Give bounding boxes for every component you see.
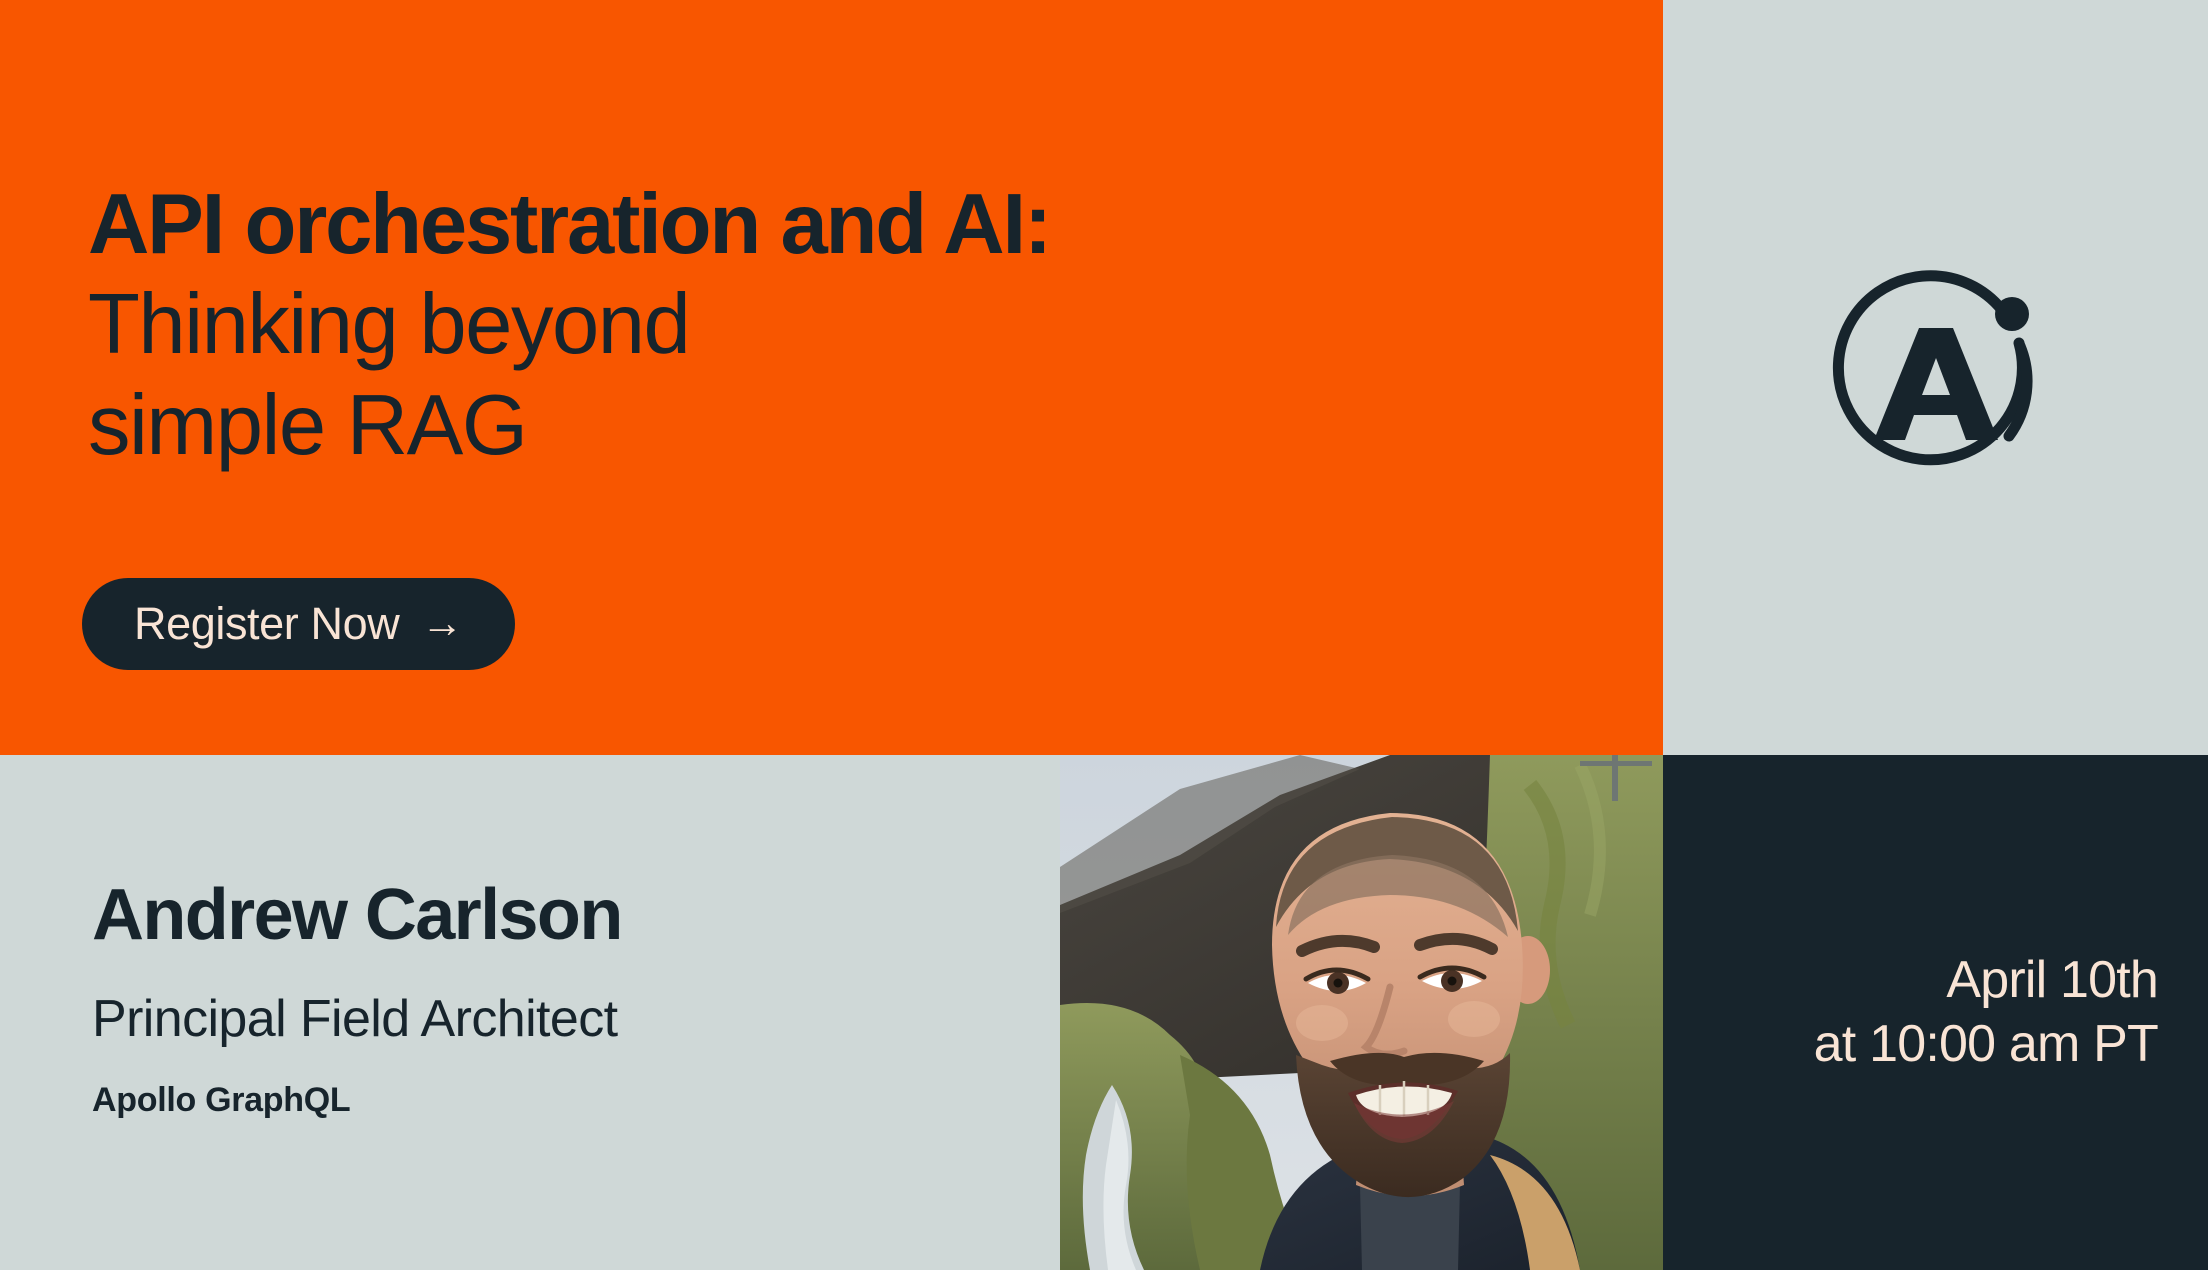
- webinar-promo-banner: API orchestration and AI: Thinking beyon…: [0, 0, 2208, 1270]
- title-line-1: API orchestration and AI:: [88, 175, 1568, 275]
- title-line-3: simple RAG: [88, 376, 1568, 476]
- apollo-logo-dot: [1995, 297, 2029, 331]
- speaker-name: Andrew Carlson: [92, 879, 622, 951]
- speaker-role: Principal Field Architect: [92, 993, 617, 1045]
- page-title: API orchestration and AI: Thinking beyon…: [88, 175, 1568, 476]
- apollo-logo-letter-a: [1874, 328, 1998, 440]
- register-now-button[interactable]: Register Now →: [82, 578, 515, 670]
- register-now-label: Register Now: [134, 598, 399, 650]
- hero-panel: API orchestration and AI: Thinking beyon…: [0, 0, 1663, 755]
- event-date-panel: April 10th at 10:00 am PT: [1663, 755, 2208, 1270]
- speaker-photo-illustration: [1060, 755, 1663, 1270]
- speaker-company: Apollo GraphQL: [92, 1083, 350, 1117]
- arrow-right-icon: →: [421, 602, 463, 644]
- logo-panel: [1663, 0, 2208, 755]
- apollo-logo-icon: [1816, 258, 2056, 498]
- title-line-2: Thinking beyond: [88, 275, 1568, 375]
- event-time: at 10:00 am PT: [1814, 1013, 2158, 1076]
- speaker-panel: Andrew Carlson Principal Field Architect…: [0, 755, 1060, 1270]
- speaker-photo: [1060, 755, 1663, 1270]
- event-date: April 10th: [1946, 949, 2158, 1012]
